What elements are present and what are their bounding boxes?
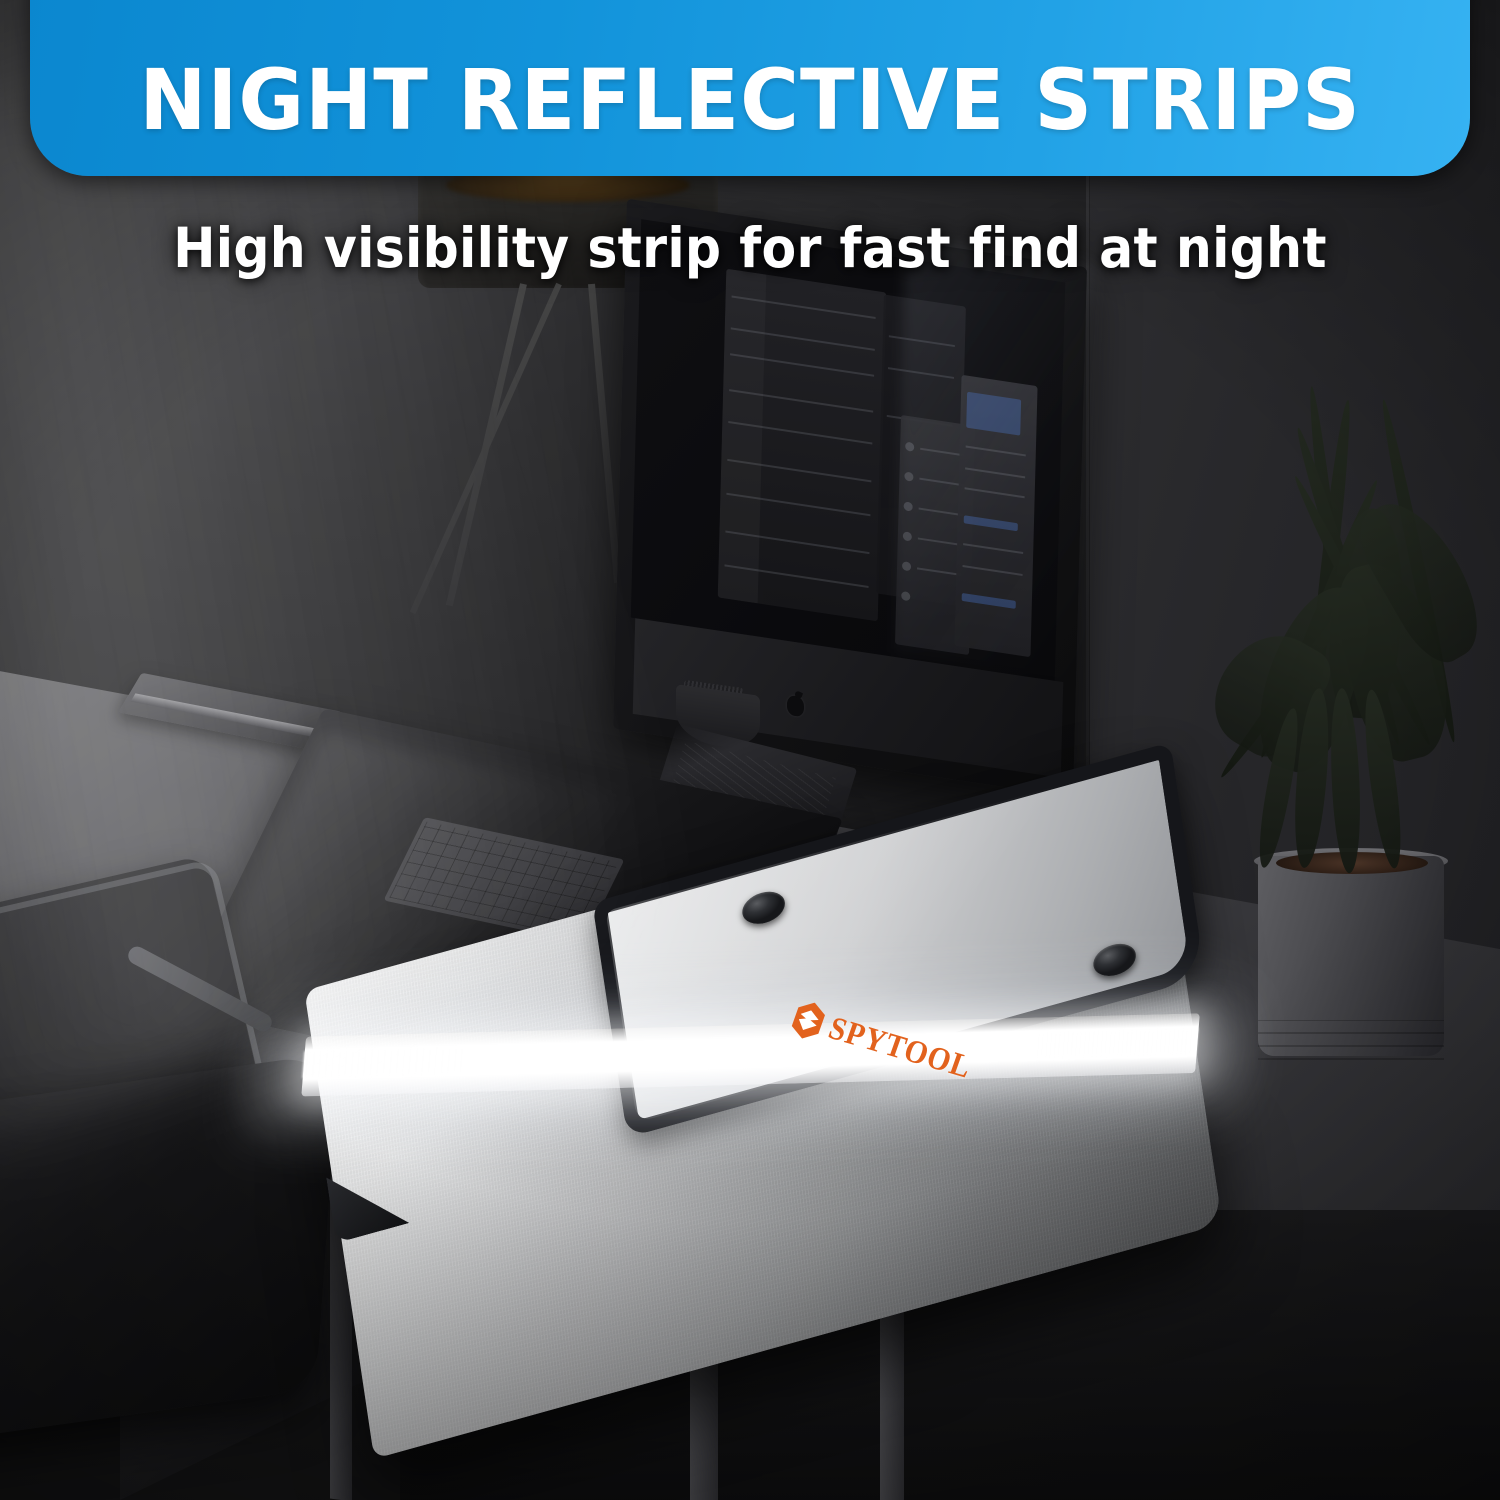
headline-title: NIGHT REFLECTIVE STRIPS bbox=[139, 58, 1360, 176]
window-sidebar bbox=[718, 269, 767, 604]
screen-window-browser bbox=[718, 269, 887, 622]
product-marketing-image: SPYTOOL NIGHT REFLECTIVE STRIPS High vis… bbox=[0, 0, 1500, 1500]
subheadline-text: High visibility strip for fast find at n… bbox=[0, 216, 1500, 280]
headline-banner: NIGHT REFLECTIVE STRIPS bbox=[30, 0, 1470, 176]
plant-pot-grooves bbox=[1258, 1020, 1444, 1060]
plant-soil bbox=[1276, 852, 1428, 874]
screen-glare bbox=[895, 235, 1096, 682]
